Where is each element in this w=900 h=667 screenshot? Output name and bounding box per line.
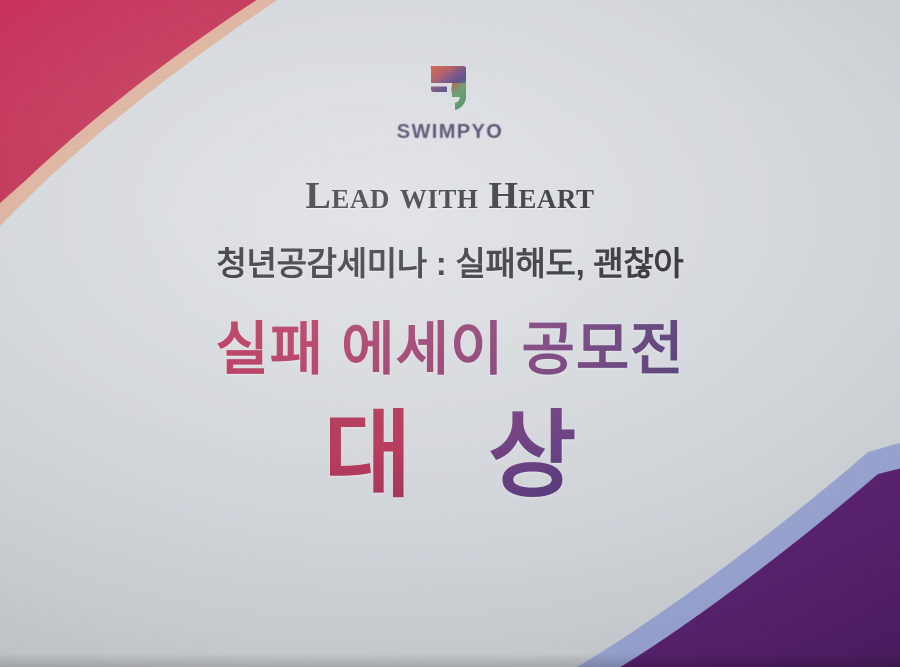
brand-wordmark: SWIMPYO (397, 121, 503, 144)
award-grade-char-2: 상 (488, 408, 576, 504)
tagline-text: Lead with Heart (306, 174, 595, 218)
brand-logo-block: SWIMPYO (397, 62, 503, 144)
award-grade-char-1: 대 (324, 408, 412, 504)
swimpyo-quote-mark-logo (425, 62, 475, 114)
award-backdrop-photo: SWIMPYO Lead with Heart 청년공감세미나 : 실패해도, … (0, 0, 900, 667)
contest-headline: 실패 에세이 공모전 (215, 302, 684, 386)
seminar-subtitle: 청년공감세미나 : 실패해도, 괜찮아 (216, 237, 683, 285)
poster-content: SWIMPYO Lead with Heart 청년공감세미나 : 실패해도, … (0, 0, 900, 667)
award-grade: 대 상 (324, 408, 577, 504)
